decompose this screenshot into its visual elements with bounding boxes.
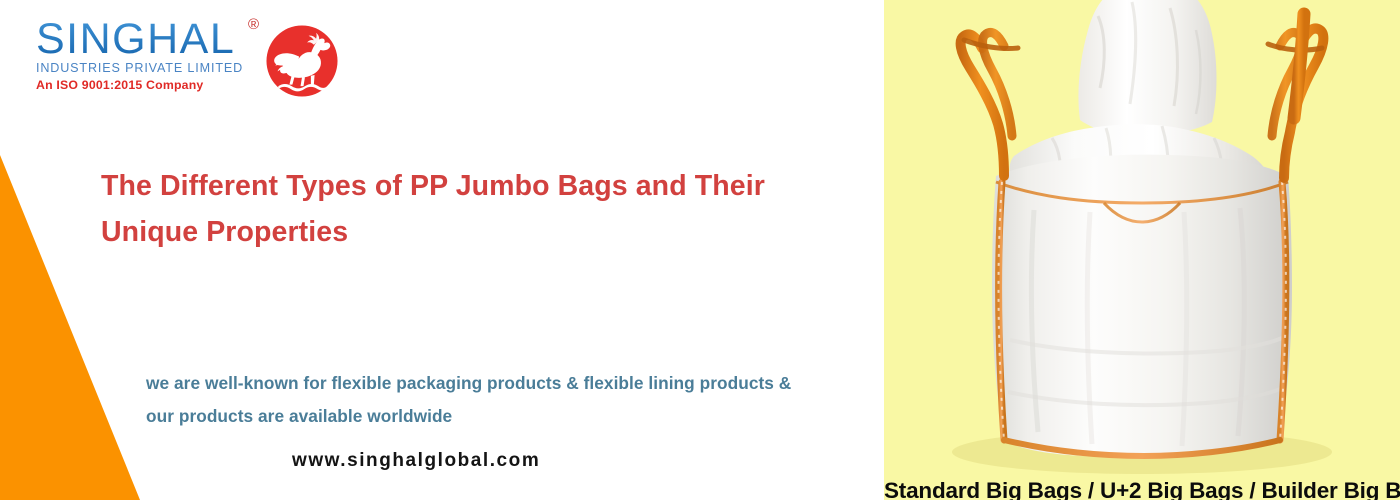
page-title: The Different Types of PP Jumbo Bags and… [101, 163, 846, 255]
company-logo: SINGHAL ® INDUSTRIES PRIVATE LIMITED An … [36, 18, 339, 98]
product-caption: Standard Big Bags / U+2 Big Bags / Build… [884, 478, 1400, 500]
bag-spout [1078, 0, 1216, 136]
tagline-text: we are well-known for flexible packaging… [146, 367, 806, 433]
brand-subtitle: INDUSTRIES PRIVATE LIMITED [36, 61, 243, 75]
winged-horse-pegasus-icon [265, 24, 339, 98]
brand-name: SINGHAL [36, 18, 243, 60]
iso-certification-label: An ISO 9001:2015 Company [36, 78, 243, 92]
marketing-banner: SINGHAL ® INDUSTRIES PRIVATE LIMITED An … [0, 0, 1400, 500]
website-url[interactable]: www.singhalglobal.com [292, 450, 540, 472]
jumbo-bag-photo [884, 0, 1400, 500]
registered-trademark-icon: ® [248, 16, 259, 33]
product-image-panel: Standard Big Bags / U+2 Big Bags / Build… [884, 0, 1400, 500]
logo-text-block: SINGHAL ® INDUSTRIES PRIVATE LIMITED An … [36, 18, 243, 92]
